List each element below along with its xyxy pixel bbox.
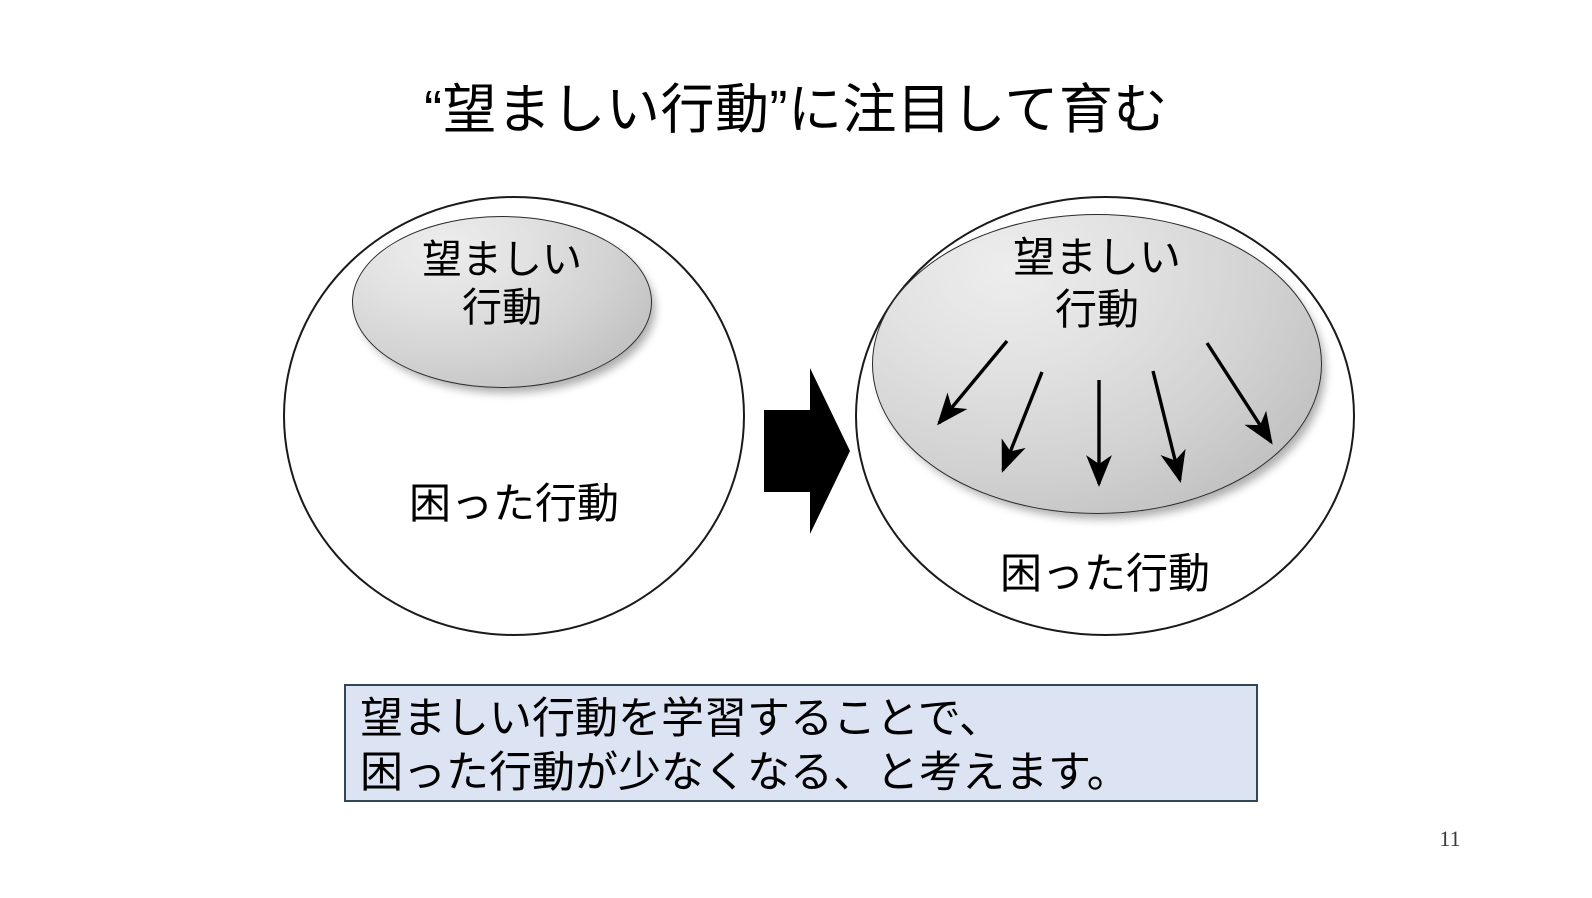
conclusion-line-2: 困った行動が少なくなる、と考えます。 [360, 746, 1256, 800]
before-desirable-behavior-ellipse [352, 216, 652, 388]
conclusion-textbox: 望ましい行動を学習することで、 困った行動が少なくなる、と考えます。 [344, 684, 1258, 802]
slide-canvas: “望ましい行動”に注目して育む 望ましい 行動 困った行動 望ましい 行動 困っ… [0, 0, 1592, 898]
page-title: “望ましい行動”に注目して育む [0, 78, 1592, 142]
page-number: 11 [1420, 826, 1480, 852]
after-desirable-behavior-ellipse [872, 214, 1322, 514]
conclusion-line-1: 望ましい行動を学習することで、 [360, 692, 1256, 746]
block-arrow-right-icon [764, 368, 850, 534]
